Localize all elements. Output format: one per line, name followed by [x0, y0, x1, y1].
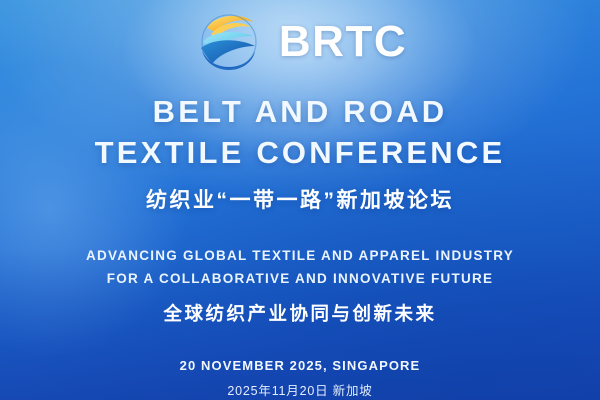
- logo-wordmark: BRTC: [279, 20, 407, 64]
- event-date-en: 20 NOVEMBER 2025, SINGAPORE: [0, 358, 600, 373]
- subtitle-line1-en: ADVANCING GLOBAL TEXTILE AND APPAREL IND…: [0, 244, 600, 268]
- logo-lockup: BRTC: [0, 6, 600, 78]
- conference-poster: BRTC BELT AND ROAD TEXTILE CONFERENCE 纺织…: [0, 0, 600, 400]
- subtitle-cn: 全球纺织产业协同与创新未来: [0, 300, 600, 326]
- poster-content: BELT AND ROAD TEXTILE CONFERENCE 纺织业“一带一…: [0, 92, 600, 399]
- title-line1-en: BELT AND ROAD: [0, 92, 600, 133]
- subtitle-line2-en: FOR A COLLABORATIVE AND INNOVATIVE FUTUR…: [0, 267, 600, 291]
- brtc-wave-globe-icon: [193, 6, 265, 78]
- title-cn: 纺织业“一带一路”新加坡论坛: [0, 184, 600, 214]
- title-line2-en: TEXTILE CONFERENCE: [0, 133, 600, 174]
- event-date-cn: 2025年11月20日 新加坡: [0, 380, 600, 399]
